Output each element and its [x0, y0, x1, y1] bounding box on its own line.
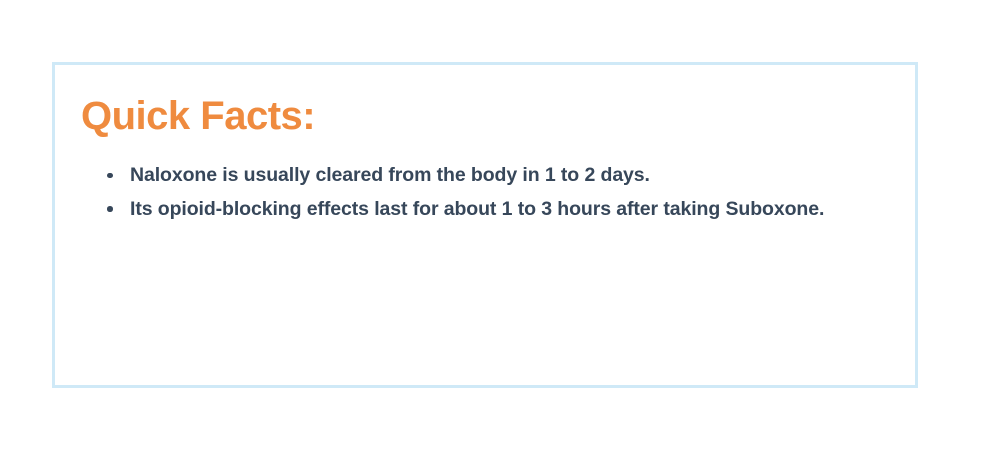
quick-facts-card: Quick Facts: Naloxone is usually cleared…	[52, 62, 918, 388]
list-item: Its opioid-blocking effects last for abo…	[103, 193, 850, 226]
bullet-dot-icon	[107, 206, 113, 212]
list-item: Naloxone is usually cleared from the bod…	[103, 159, 850, 192]
page-canvas: Quick Facts: Naloxone is usually cleared…	[0, 0, 1000, 455]
quick-facts-card-content: Quick Facts: Naloxone is usually cleared…	[55, 65, 915, 225]
page-title: Quick Facts:	[81, 95, 879, 137]
bullet-dot-icon	[107, 173, 113, 179]
list-item-label: Naloxone is usually cleared from the bod…	[130, 164, 650, 186]
quick-facts-list: Naloxone is usually cleared from the bod…	[81, 159, 879, 225]
list-item-label: Its opioid-blocking effects last for abo…	[130, 198, 824, 220]
